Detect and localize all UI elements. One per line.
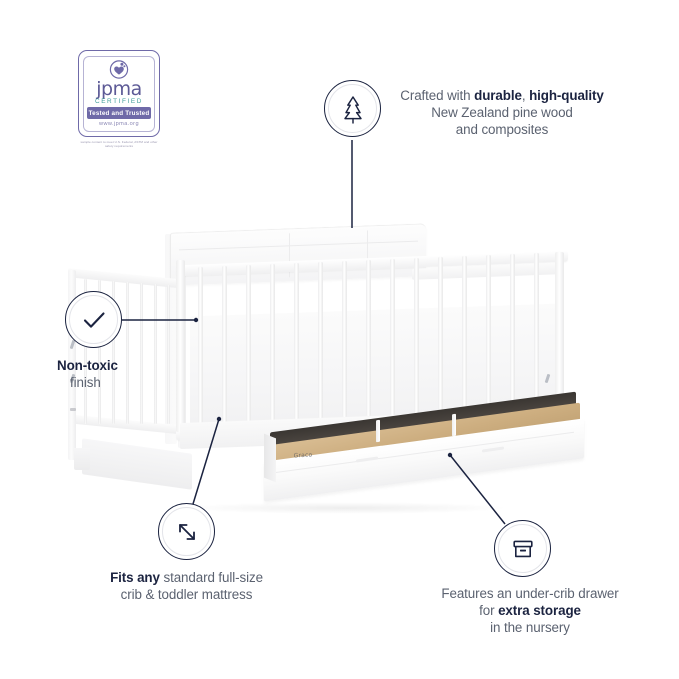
jpma-fine-print: sample content to meet U.S. Federal, AST…	[78, 140, 160, 148]
callout-line: Fits any standard full-size	[84, 570, 289, 587]
callout-line: Non-toxic	[57, 358, 187, 375]
diagonal-arrows-icon	[173, 518, 201, 546]
jpma-certification-badge: jpma CERTIFIED Tested and Trusted www.jp…	[78, 50, 160, 149]
callout-line: and composites	[388, 122, 616, 139]
storage-box-icon	[509, 535, 537, 563]
infographic-canvas: Graco jpma CERTIFIED Tested and Trusted …	[0, 0, 679, 679]
jpma-wordmark: jpma	[86, 80, 152, 98]
callout-icon-storage	[494, 520, 551, 577]
graco-brand-mark: Graco	[291, 450, 315, 460]
callout-line: for extra storage	[424, 603, 636, 620]
crib-left-foot	[74, 448, 90, 470]
pine-tree-icon	[340, 94, 366, 124]
callout-line: Crafted with durable, high-quality	[388, 88, 616, 105]
callout-text-mattress-fit: Fits any standard full-sizecrib & toddle…	[84, 570, 289, 604]
callout-line: finish	[57, 375, 187, 392]
jpma-tested-trusted-band: Tested and Trusted	[87, 107, 151, 119]
callout-icon-mattress-fit	[158, 503, 215, 560]
callout-icon-non-toxic	[65, 291, 122, 348]
jpma-url: www.jpma.org	[86, 121, 152, 128]
callout-line: New Zealand pine wood	[388, 105, 616, 122]
callout-line: crib & toddler mattress	[84, 587, 289, 604]
jpma-certified-label: CERTIFIED	[86, 98, 152, 105]
callout-text-non-toxic: Non-toxicfinish	[57, 358, 187, 392]
callout-text-material: Crafted with durable, high-qualityNew Ze…	[388, 88, 616, 138]
callout-text-storage: Features an under-crib drawerfor extra s…	[424, 586, 636, 636]
checkmark-icon	[80, 309, 108, 331]
callout-line: in the nursery	[424, 620, 636, 637]
jpma-heart-icon	[86, 60, 152, 79]
callout-line: Features an under-crib drawer	[424, 586, 636, 603]
callout-icon-material	[324, 80, 381, 137]
